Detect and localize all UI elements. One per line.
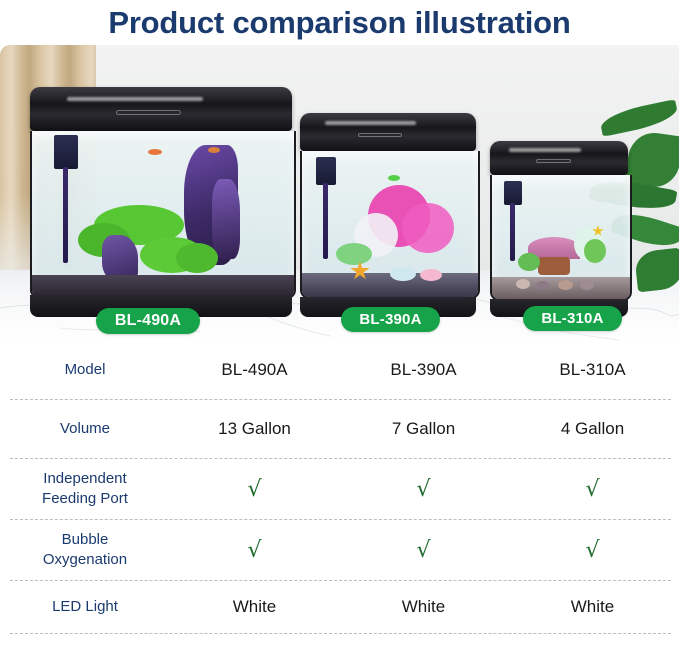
- check-icon-feeding-bl-390a: √: [339, 477, 508, 502]
- tank-hood: [490, 141, 628, 175]
- rock-decor-secondary: [212, 179, 240, 259]
- badge-label: BL-390A: [359, 311, 421, 328]
- cell-volume-bl-490a: 13 Gallon: [170, 419, 339, 439]
- check-icon-feeding-bl-490a: √: [170, 477, 339, 502]
- cell-model-bl-390a: BL-390A: [339, 360, 508, 380]
- comparison-table: Model BL-490A BL-390A BL-310A Volume 13 …: [0, 341, 679, 647]
- fish: [208, 147, 220, 153]
- row-label-led-light: LED Light: [0, 597, 170, 617]
- row-label-bubble-oxygenation: Bubble Oxygenation: [0, 530, 170, 571]
- table-row-volume: Volume 13 Gallon 7 Gallon 4 Gallon: [0, 400, 679, 458]
- tank-bl-490a: [30, 87, 292, 317]
- tank-bl-310a: [490, 141, 628, 317]
- page-header: Product comparison illustration: [0, 0, 679, 45]
- hut-decor-body: [538, 257, 570, 275]
- row-label-text-line1: Independent: [43, 469, 126, 489]
- tank-filter: [54, 135, 78, 169]
- tank-substrate: [32, 275, 294, 297]
- pebble: [580, 281, 594, 290]
- tank-filter-tube: [323, 183, 328, 259]
- row-separator-bottom: [10, 633, 671, 634]
- plant-decor: [176, 243, 218, 273]
- product-badge-bl-490a: BL-490A: [96, 308, 200, 334]
- plant-decor: [584, 239, 606, 263]
- row-label-text: LED Light: [52, 597, 118, 617]
- product-badge-bl-390a: BL-390A: [341, 307, 440, 332]
- pebble: [558, 280, 573, 290]
- cell-led-bl-490a: White: [170, 597, 339, 617]
- pebble: [516, 279, 530, 289]
- tank-glass: [30, 131, 296, 299]
- tank-glass: [300, 151, 480, 299]
- cell-model-bl-310a: BL-310A: [508, 360, 677, 380]
- product-photo: BL-490A BL-390A BL-310A: [0, 45, 679, 341]
- shell-decor: [420, 269, 442, 281]
- coral-decor: [402, 203, 454, 253]
- check-icon-bubble-bl-310a: √: [508, 538, 677, 563]
- tank-filter: [504, 181, 522, 205]
- pebble: [536, 281, 549, 290]
- badge-label: BL-490A: [115, 312, 181, 330]
- table-row-independent-feeding-port: Independent Feeding Port √ √ √: [0, 459, 679, 519]
- table-row-model: Model BL-490A BL-390A BL-310A: [0, 341, 679, 399]
- tank-glass: [490, 175, 632, 301]
- fish: [388, 175, 400, 181]
- row-label-text-line1: Bubble: [62, 530, 109, 550]
- row-label-model: Model: [0, 360, 170, 380]
- row-label-volume: Volume: [0, 419, 170, 439]
- check-icon-bubble-bl-490a: √: [170, 538, 339, 563]
- tank-bl-390a: [300, 113, 476, 317]
- fish: [148, 149, 162, 155]
- cell-led-bl-310a: White: [508, 597, 677, 617]
- plant-decor: [518, 253, 540, 271]
- row-label-text-line2: Feeding Port: [42, 489, 128, 509]
- check-icon-feeding-bl-310a: √: [508, 477, 677, 502]
- product-badge-bl-310a: BL-310A: [523, 306, 622, 331]
- cell-led-bl-390a: White: [339, 597, 508, 617]
- tank-hood: [30, 87, 292, 131]
- shell-decor: [390, 267, 416, 281]
- row-label-text: Volume: [60, 419, 110, 439]
- tank-hood: [300, 113, 476, 151]
- row-label-independent-feeding-port: Independent Feeding Port: [0, 469, 170, 510]
- tank-filter: [316, 157, 336, 185]
- table-row-bubble-oxygenation: Bubble Oxygenation √ √ √: [0, 520, 679, 580]
- row-label-text-line2: Oxygenation: [43, 550, 127, 570]
- cell-model-bl-490a: BL-490A: [170, 360, 339, 380]
- badge-label: BL-310A: [541, 310, 603, 327]
- page-title: Product comparison illustration: [108, 7, 570, 38]
- check-icon-bubble-bl-390a: √: [339, 538, 508, 563]
- tank-filter-tube: [510, 203, 515, 261]
- table-row-led-light: LED Light White White White: [0, 581, 679, 633]
- row-label-text: Model: [65, 360, 106, 380]
- tank-filter-tube: [63, 167, 68, 263]
- cell-volume-bl-310a: 4 Gallon: [508, 419, 677, 439]
- cell-volume-bl-390a: 7 Gallon: [339, 419, 508, 439]
- plant-decor: [336, 243, 372, 265]
